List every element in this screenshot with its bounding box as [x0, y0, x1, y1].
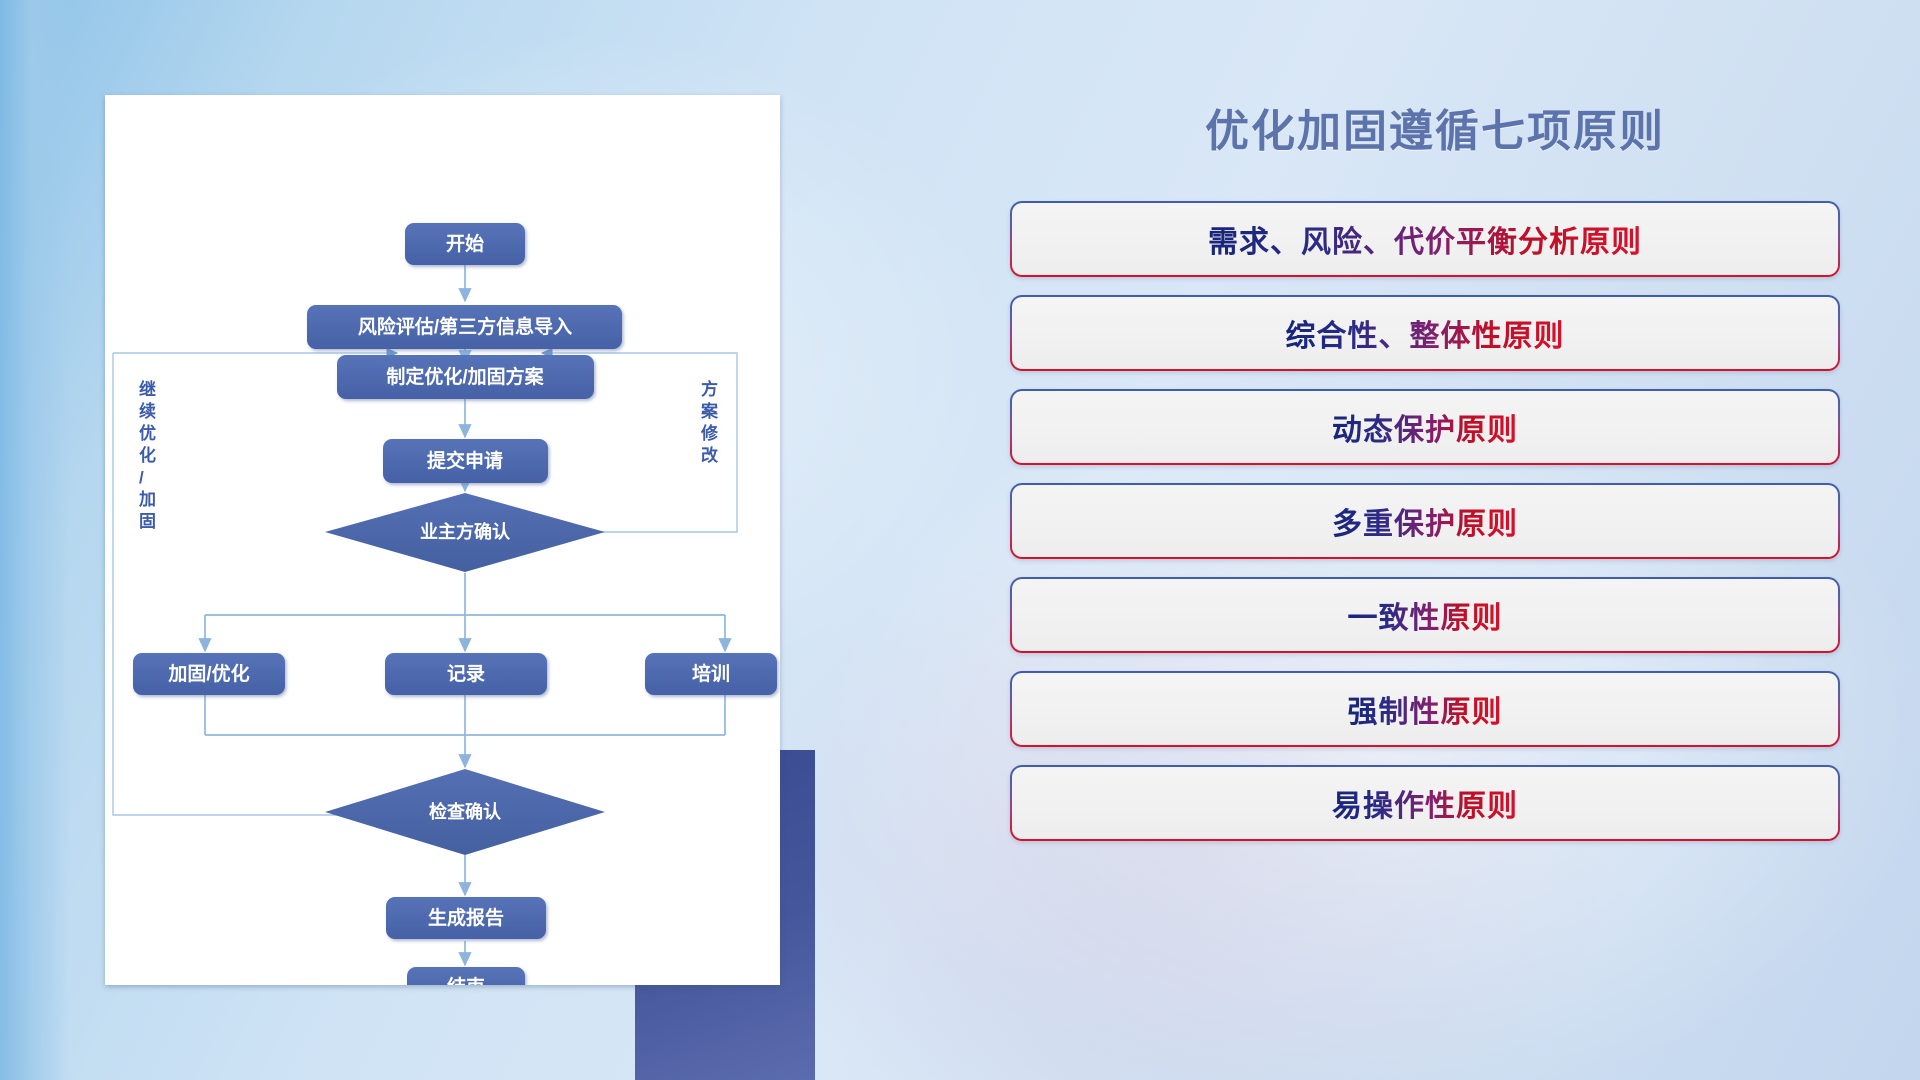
principle-inner: 需求、风险、代价平衡分析原则 — [1012, 203, 1838, 275]
svg-text:续: 续 — [139, 401, 156, 421]
left-panel: 开始 风险评估/第三方信息导入 制定优化/加固方案 提交申请 业主方确认 — [105, 95, 785, 975]
svg-text:化: 化 — [139, 445, 156, 465]
flow-node-end-label: 结束 — [447, 975, 486, 985]
principle-inner: 一致性原则 — [1012, 579, 1838, 651]
loop-label-left: 继 续 优 化 / 加 固 — [138, 379, 156, 531]
flow-node-plan-label: 制定优化/加固方案 — [386, 365, 544, 388]
principle-label: 多重保护原则 — [1332, 499, 1518, 543]
flow-node-reinforce-label: 加固/优化 — [167, 662, 249, 685]
flow-node-report-label: 生成报告 — [428, 906, 504, 929]
principle-label: 综合性、整体性原则 — [1286, 311, 1565, 355]
flow-node-start-label: 开始 — [446, 232, 484, 255]
svg-text:优: 优 — [139, 423, 156, 443]
principle-item[interactable]: 一致性原则 — [1010, 577, 1840, 653]
flow-node-risk-label: 风险评估/第三方信息导入 — [358, 315, 572, 338]
svg-text:继: 继 — [139, 379, 156, 399]
principle-item[interactable]: 综合性、整体性原则 — [1010, 295, 1840, 371]
svg-text:固: 固 — [139, 512, 156, 531]
principle-label: 一致性原则 — [1348, 593, 1503, 637]
flow-node-owner-confirm-label: 业主方确认 — [420, 521, 511, 542]
svg-text:案: 案 — [700, 401, 719, 421]
flow-node-record-label: 记录 — [447, 663, 485, 685]
svg-text:/: / — [139, 468, 144, 487]
principle-inner: 强制性原则 — [1012, 673, 1838, 745]
principle-label: 需求、风险、代价平衡分析原则 — [1208, 217, 1642, 261]
principle-item[interactable]: 强制性原则 — [1010, 671, 1840, 747]
principle-item[interactable]: 需求、风险、代价平衡分析原则 — [1010, 201, 1840, 277]
right-panel: 优化加固遵循七项原则 需求、风险、代价平衡分析原则 综合性、整体性原则 动态保护… — [1010, 95, 1840, 995]
svg-text:改: 改 — [701, 445, 719, 465]
principle-inner: 易操作性原则 — [1012, 767, 1838, 839]
principle-label: 动态保护原则 — [1332, 405, 1518, 449]
principle-inner: 综合性、整体性原则 — [1012, 297, 1838, 369]
principle-item[interactable]: 动态保护原则 — [1010, 389, 1840, 465]
principle-inner: 动态保护原则 — [1012, 391, 1838, 463]
svg-text:加: 加 — [138, 490, 156, 509]
svg-text:方: 方 — [701, 379, 718, 399]
principle-item[interactable]: 多重保护原则 — [1010, 483, 1840, 559]
principle-item[interactable]: 易操作性原则 — [1010, 765, 1840, 841]
flow-node-training-label: 培训 — [692, 662, 730, 685]
flow-node-inspect-label: 检查确认 — [429, 801, 502, 822]
loop-label-right: 方 案 修 改 — [700, 379, 719, 465]
principle-label: 强制性原则 — [1348, 687, 1503, 731]
principles-list: 需求、风险、代价平衡分析原则 综合性、整体性原则 动态保护原则 多重保护原则 一… — [1010, 201, 1840, 841]
flow-node-submit-label: 提交申请 — [427, 449, 503, 472]
loop-path-outline — [113, 353, 737, 815]
page-title: 优化加固遵循七项原则 — [1010, 95, 1840, 159]
principle-inner: 多重保护原则 — [1012, 485, 1838, 557]
principle-label: 易操作性原则 — [1332, 781, 1518, 825]
svg-text:修: 修 — [700, 423, 719, 443]
flowchart-diagram: 开始 风险评估/第三方信息导入 制定优化/加固方案 提交申请 业主方确认 — [105, 95, 780, 985]
flowchart-card: 开始 风险评估/第三方信息导入 制定优化/加固方案 提交申请 业主方确认 — [105, 95, 780, 985]
